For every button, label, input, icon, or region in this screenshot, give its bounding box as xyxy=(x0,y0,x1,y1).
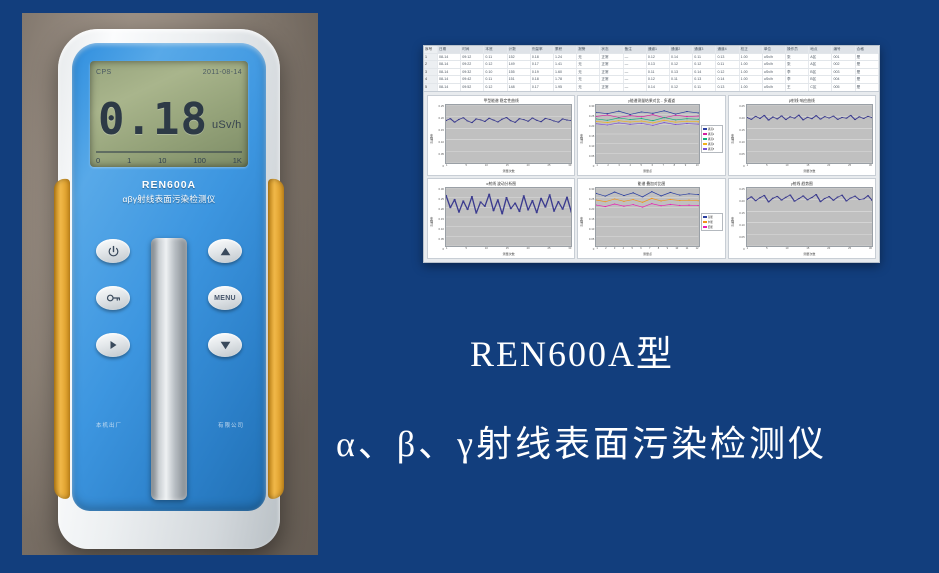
y-tick-label: 0.05 xyxy=(735,152,745,156)
data-table: 序号日期时间本底计数剂量率累积报警状态备注通道1通道2通道3通道4校正单位操作员… xyxy=(424,46,879,92)
y-axis-ticks: 0.250.200.150.100.050 xyxy=(735,104,746,174)
lcd-display: CPS 2011-08-14 0.18 uSv/h 01101001K xyxy=(90,61,248,167)
y-axis-ticks: 0.250.200.150.100.050 xyxy=(434,104,445,174)
table-cell: A区 xyxy=(809,54,832,61)
y-tick-label: 0.20 xyxy=(584,124,594,128)
table-cell: 0.12 xyxy=(484,84,507,91)
power-icon xyxy=(107,245,120,258)
table-cell: 002 xyxy=(832,61,855,68)
y-tick-label: 0.10 xyxy=(584,227,594,231)
device-footer-left: 本机出厂 xyxy=(96,421,122,429)
chart-title: γ射线 趋势图 xyxy=(729,179,875,187)
chart-body: 计数率0.250.200.150.100.050151015202530测量次数 xyxy=(428,104,574,175)
table-cell: 1.00 xyxy=(740,54,763,61)
chart-beta-response: β射线 响应曲线计数率0.250.200.150.100.05015101520… xyxy=(728,95,876,176)
table-cell: 无 xyxy=(577,54,600,61)
table-cell: 正常 xyxy=(600,69,623,76)
key-search-icon xyxy=(106,292,121,304)
lcd-status-left: CPS xyxy=(96,69,112,76)
plot-wrapper: 151015202530测量次数 xyxy=(746,104,873,174)
table-cell: 08-14 xyxy=(438,54,461,61)
table-header-cell: 合格 xyxy=(856,46,879,53)
y-tick-label: 0.15 xyxy=(584,217,594,221)
legend-item: 通道2 xyxy=(703,132,721,136)
table-cell: 无 xyxy=(577,69,600,76)
plot-area xyxy=(595,187,699,247)
plot-wrapper: 123456789101112测量点 xyxy=(595,187,699,257)
lcd-scale-tick: 1 xyxy=(127,156,131,165)
y-axis-ticks: 0.300.250.200.150.100.050 xyxy=(584,104,595,174)
table-cell: 155 xyxy=(508,69,531,76)
chart-alpha-stability: 甲型能谱 稳定性曲线计数率0.250.200.150.100.050151015… xyxy=(427,95,575,176)
table-cell: 09:52 xyxy=(461,84,484,91)
plot-wrapper: 151015202530测量次数 xyxy=(445,104,572,174)
table-cell: 正常 xyxy=(600,61,623,68)
table-header-cell: 计数 xyxy=(508,46,531,53)
chart-body: 计数率0.250.200.150.100.050151015202530测量次数 xyxy=(729,104,875,175)
table-cell: 李 xyxy=(786,69,809,76)
table-cell: 1.41 xyxy=(554,61,577,68)
y-tick-label: 0 xyxy=(584,164,594,168)
table-header-cell: 通道1 xyxy=(647,46,670,53)
table-cell: 0.13 xyxy=(716,54,739,61)
table-cell: B区 xyxy=(809,69,832,76)
table-cell: 08-14 xyxy=(438,84,461,91)
table-cell: 1.78 xyxy=(554,76,577,83)
x-axis-label: 测量次数 xyxy=(445,252,572,257)
device-description-label: αβγ射线表面污染检测仪 xyxy=(72,193,266,205)
legend-item: 通道1 xyxy=(703,127,721,131)
y-tick-label: 0.15 xyxy=(584,134,594,138)
table-cell: 0.11 xyxy=(716,61,739,68)
y-tick-label: 0.25 xyxy=(434,197,444,201)
y-tick-label: 0.15 xyxy=(434,217,444,221)
y-axis-label: 计数率 xyxy=(429,217,434,227)
table-cell: 0.18 xyxy=(531,76,554,83)
table-cell: uSv/h xyxy=(763,84,786,91)
table-cell: 0.13 xyxy=(647,61,670,68)
table-cell: A区 xyxy=(809,61,832,68)
table-cell: 0.11 xyxy=(693,54,716,61)
play-icon xyxy=(107,339,119,351)
table-header-cell: 单位 xyxy=(763,46,786,53)
down-button[interactable] xyxy=(208,333,242,357)
y-tick-label: 0.30 xyxy=(584,104,594,108)
table-cell: C区 xyxy=(809,84,832,91)
y-tick-label: 0.30 xyxy=(434,187,444,191)
table-cell: 0.17 xyxy=(531,61,554,68)
legend-swatch xyxy=(703,148,707,151)
chart-title: γ能谱测量结果对比 - 多通道 xyxy=(578,96,724,104)
table-cell: 004 xyxy=(832,76,855,83)
table-cell: 无 xyxy=(577,76,600,83)
table-header-cell: 状态 xyxy=(600,46,623,53)
table-cell: uSv/h xyxy=(763,69,786,76)
table-header-cell: 累积 xyxy=(554,46,577,53)
chart-title: β射线 响应曲线 xyxy=(729,96,875,104)
plot-wrapper: 151015202530测量次数 xyxy=(445,187,572,257)
y-tick-label: 0.05 xyxy=(735,235,745,239)
chart-legend: 通道1通道2通道3通道4通道5 xyxy=(701,125,723,153)
table-cell: 1.60 xyxy=(554,69,577,76)
legend-label: 低能 xyxy=(708,225,713,229)
table-header-cell: 序号 xyxy=(424,46,438,53)
table-cell: — xyxy=(624,69,647,76)
table-cell: 0.10 xyxy=(484,69,507,76)
y-tick-label: 0.10 xyxy=(434,227,444,231)
y-tick-label: 0.10 xyxy=(434,140,444,144)
table-cell: 0.11 xyxy=(484,54,507,61)
table-header-cell: 通道2 xyxy=(670,46,693,53)
search-button[interactable] xyxy=(96,286,130,310)
table-cell: 张 xyxy=(786,61,809,68)
play-button[interactable] xyxy=(96,333,130,357)
table-cell: — xyxy=(624,84,647,91)
page-title-model: REN600A型 xyxy=(470,325,674,377)
y-tick-label: 0.15 xyxy=(434,128,444,132)
legend-label: 通道1 xyxy=(708,127,715,131)
legend-label: 通道4 xyxy=(708,142,715,146)
legend-item: 低能 xyxy=(703,225,721,229)
table-cell: 5 xyxy=(424,84,438,91)
table-cell: 是 xyxy=(856,84,879,91)
table-cell: 正常 xyxy=(600,84,623,91)
legend-swatch xyxy=(703,133,707,136)
table-cell: 是 xyxy=(856,61,879,68)
chart-energy-stacked: 能谱 叠加对比图计数率0.300.250.200.150.100.0501234… xyxy=(577,178,725,259)
table-cell: uSv/h xyxy=(763,61,786,68)
table-cell: — xyxy=(624,54,647,61)
up-button[interactable] xyxy=(208,239,242,263)
table-cell: 0.14 xyxy=(716,76,739,83)
table-cell: 149 xyxy=(508,61,531,68)
plot-svg xyxy=(747,188,872,246)
table-header-cell: 编号 xyxy=(832,46,855,53)
legend-item: 通道5 xyxy=(703,147,721,151)
y-tick-label: 0.05 xyxy=(584,154,594,158)
chart-legend: 高能中能低能 xyxy=(701,213,723,231)
table-cell: 09:42 xyxy=(461,76,484,83)
triangle-down-icon xyxy=(219,340,232,351)
table-cell: 无 xyxy=(577,61,600,68)
plot-svg xyxy=(446,188,571,246)
table-cell: 0.13 xyxy=(716,84,739,91)
y-tick-label: 0.05 xyxy=(584,237,594,241)
table-cell: 0.11 xyxy=(693,84,716,91)
y-tick-label: 0 xyxy=(735,247,745,251)
table-cell: 0.19 xyxy=(531,69,554,76)
lcd-status-right: 2011-08-14 xyxy=(203,69,242,76)
table-cell: 003 xyxy=(832,69,855,76)
lcd-scale-tick: 100 xyxy=(193,156,206,165)
plot-area xyxy=(445,104,572,164)
chart-title: 甲型能谱 稳定性曲线 xyxy=(428,96,574,104)
table-cell: 0.12 xyxy=(647,54,670,61)
y-axis-label: 计数率 xyxy=(579,217,584,227)
table-cell: 1.24 xyxy=(554,54,577,61)
table-cell: 2 xyxy=(424,61,438,68)
y-tick-label: 0.20 xyxy=(434,207,444,211)
y-axis-ticks: 0.250.200.150.100.050 xyxy=(735,187,746,257)
table-cell: 0.14 xyxy=(647,84,670,91)
side-grip-right xyxy=(268,179,284,500)
table-cell: 005 xyxy=(832,84,855,91)
table-cell: 0.14 xyxy=(670,54,693,61)
table-cell: 0.12 xyxy=(716,69,739,76)
table-cell: 0.11 xyxy=(647,69,670,76)
plot-svg xyxy=(596,188,698,246)
y-tick-label: 0.25 xyxy=(584,197,594,201)
triangle-up-icon xyxy=(219,246,232,257)
y-tick-label: 0.25 xyxy=(434,104,444,108)
table-row: 308-1409:320.101550.191.60无正常—0.110.130.… xyxy=(424,69,879,77)
table-cell: 09:32 xyxy=(461,69,484,76)
table-cell: 09:22 xyxy=(461,61,484,68)
table-cell: 001 xyxy=(832,54,855,61)
y-tick-label: 0.25 xyxy=(584,114,594,118)
chart-title: α射线 波动分析图 xyxy=(428,179,574,187)
lcd-scale-ticks: 01101001K xyxy=(96,154,242,166)
y-axis-ticks: 0.300.250.200.150.100.050 xyxy=(434,187,445,257)
table-cell: 0.12 xyxy=(484,61,507,68)
table-cell: 0.12 xyxy=(647,76,670,83)
table-row: 508-1409:520.121480.171.95无正常—0.140.120.… xyxy=(424,84,879,92)
menu-button-label: MENU xyxy=(214,295,236,302)
y-tick-label: 0.25 xyxy=(735,187,745,191)
y-tick-label: 0.20 xyxy=(584,207,594,211)
page-title-description: α、β、γ射线表面污染检测仪 xyxy=(336,415,827,467)
legend-label: 中能 xyxy=(708,220,713,224)
plot-wrapper: 12345678910测量点 xyxy=(595,104,699,174)
y-tick-label: 0 xyxy=(434,164,444,168)
table-cell: 0.11 xyxy=(484,76,507,83)
plot-area xyxy=(445,187,572,247)
table-cell: — xyxy=(624,61,647,68)
table-cell: 09:12 xyxy=(461,54,484,61)
x-axis-label: 测量次数 xyxy=(445,169,572,174)
table-cell: 无 xyxy=(577,84,600,91)
table-header-cell: 操作员 xyxy=(786,46,809,53)
table-cell: 0.12 xyxy=(693,61,716,68)
y-tick-label: 0.20 xyxy=(735,116,745,120)
table-cell: 李 xyxy=(786,76,809,83)
table-cell: 148 xyxy=(508,84,531,91)
y-tick-label: 0.30 xyxy=(584,187,594,191)
table-cell: 1.95 xyxy=(554,84,577,91)
y-tick-label: 0.05 xyxy=(434,237,444,241)
y-tick-label: 0.10 xyxy=(735,140,745,144)
legend-swatch xyxy=(703,128,707,131)
table-cell: uSv/h xyxy=(763,54,786,61)
plot-svg xyxy=(596,105,698,163)
menu-button[interactable]: MENU xyxy=(208,286,242,310)
x-axis-label: 测量点 xyxy=(595,169,699,174)
y-tick-label: 0.15 xyxy=(735,211,745,215)
legend-swatch xyxy=(703,221,707,224)
power-button[interactable] xyxy=(96,239,130,263)
device-model-label: REN600A xyxy=(72,179,266,191)
y-tick-label: 0.25 xyxy=(735,104,745,108)
device-handle-strip xyxy=(151,238,187,500)
chart-multichannel-spectrum: γ能谱测量结果对比 - 多通道计数率0.300.250.200.150.100.… xyxy=(577,95,725,176)
side-grip-left xyxy=(54,179,70,500)
table-cell: 是 xyxy=(856,69,879,76)
table-cell: — xyxy=(624,76,647,83)
x-axis-label: 测量次数 xyxy=(746,252,873,257)
table-header-row: 序号日期时间本底计数剂量率累积报警状态备注通道1通道2通道3通道4校正单位操作员… xyxy=(424,46,879,54)
device-brand-block: REN600A αβγ射线表面污染检测仪 xyxy=(72,179,266,205)
table-cell: 1.00 xyxy=(740,69,763,76)
plot-wrapper: 151015202530测量次数 xyxy=(746,187,873,257)
table-cell: 正常 xyxy=(600,76,623,83)
chart-body: 计数率0.300.250.200.150.100.05012345678910测… xyxy=(578,104,724,175)
charts-grid: 甲型能谱 稳定性曲线计数率0.250.200.150.100.050151015… xyxy=(424,92,879,262)
y-axis-label: 计数率 xyxy=(429,134,434,144)
product-photo: CPS 2011-08-14 0.18 uSv/h 01101001K REN6… xyxy=(22,13,318,555)
table-header-cell: 地点 xyxy=(809,46,832,53)
table-cell: 1.00 xyxy=(740,76,763,83)
lcd-value: 0.18 xyxy=(98,99,208,141)
lcd-scale-tick: 10 xyxy=(158,156,166,165)
legend-swatch xyxy=(703,143,707,146)
table-cell: 0.12 xyxy=(670,61,693,68)
table-cell: 0.18 xyxy=(531,54,554,61)
lcd-status-bar: CPS 2011-08-14 xyxy=(96,66,242,79)
chart-body: 计数率0.300.250.200.150.100.050123456789101… xyxy=(578,187,724,258)
chart-body: 计数率0.250.200.150.100.050151015202530测量次数 xyxy=(729,187,875,258)
table-cell: 08-14 xyxy=(438,69,461,76)
table-cell: 是 xyxy=(856,76,879,83)
legend-label: 通道5 xyxy=(708,147,715,151)
device-shell: CPS 2011-08-14 0.18 uSv/h 01101001K REN6… xyxy=(58,29,280,549)
table-header-cell: 时间 xyxy=(461,46,484,53)
table-cell: 张 xyxy=(786,54,809,61)
table-header-cell: 日期 xyxy=(438,46,461,53)
table-cell: 正常 xyxy=(600,54,623,61)
plot-area xyxy=(595,104,699,164)
lcd-unit: uSv/h xyxy=(212,119,242,141)
y-tick-label: 0 xyxy=(735,164,745,168)
table-header-cell: 校正 xyxy=(740,46,763,53)
device-faceplate: CPS 2011-08-14 0.18 uSv/h 01101001K REN6… xyxy=(72,43,266,511)
table-cell: B区 xyxy=(809,76,832,83)
y-axis-ticks: 0.300.250.200.150.100.050 xyxy=(584,187,595,257)
y-tick-label: 0.10 xyxy=(735,223,745,227)
table-cell: 3 xyxy=(424,69,438,76)
device-footer-right: 有限公司 xyxy=(218,421,244,429)
table-cell: 1.00 xyxy=(740,61,763,68)
plot-area xyxy=(746,104,873,164)
x-axis-label: 测量次数 xyxy=(746,169,873,174)
legend-item: 通道3 xyxy=(703,137,721,141)
table-cell: 151 xyxy=(508,76,531,83)
lcd-reading: 0.18 uSv/h xyxy=(98,83,242,141)
chart-title: 能谱 叠加对比图 xyxy=(578,179,724,187)
chart-alpha-fluctuation: α射线 波动分析图计数率0.300.250.200.150.100.050151… xyxy=(427,178,575,259)
table-header-cell: 通道4 xyxy=(716,46,739,53)
legend-label: 通道2 xyxy=(708,132,715,136)
plot-area xyxy=(746,187,873,247)
table-cell: 0.11 xyxy=(670,76,693,83)
y-axis-label: 计数率 xyxy=(730,217,735,227)
table-cell: 08-14 xyxy=(438,76,461,83)
table-cell: 152 xyxy=(508,54,531,61)
table-cell: 4 xyxy=(424,76,438,83)
legend-label: 通道3 xyxy=(708,137,715,141)
y-tick-label: 0.20 xyxy=(434,116,444,120)
y-tick-label: 0 xyxy=(584,247,594,251)
y-tick-label: 0.10 xyxy=(584,144,594,148)
legend-item: 通道4 xyxy=(703,142,721,146)
chart-gamma-trend: γ射线 趋势图计数率0.250.200.150.100.050151015202… xyxy=(728,178,876,259)
table-cell: uSv/h xyxy=(763,76,786,83)
legend-item: 高能 xyxy=(703,215,721,219)
plot-svg xyxy=(446,105,571,163)
table-header-cell: 剂量率 xyxy=(531,46,554,53)
table-row: 408-1409:420.111510.181.78无正常—0.120.110.… xyxy=(424,76,879,84)
lcd-scale-bar xyxy=(96,151,242,153)
legend-swatch xyxy=(703,226,707,229)
y-tick-label: 0.20 xyxy=(735,199,745,203)
table-cell: 是 xyxy=(856,54,879,61)
table-cell: 0.12 xyxy=(670,84,693,91)
table-row: 208-1409:220.121490.171.41无正常—0.130.120.… xyxy=(424,61,879,69)
table-cell: 0.17 xyxy=(531,84,554,91)
y-axis-label: 计数率 xyxy=(579,134,584,144)
lcd-scale-tick: 0 xyxy=(96,156,100,165)
legend-swatch xyxy=(703,216,707,219)
table-cell: 0.14 xyxy=(693,69,716,76)
legend-swatch xyxy=(703,138,707,141)
table-row: 108-1409:120.111520.181.24无正常—0.120.140.… xyxy=(424,54,879,62)
table-cell: 王 xyxy=(786,84,809,91)
y-tick-label: 0.15 xyxy=(735,128,745,132)
legend-label: 高能 xyxy=(708,215,713,219)
table-header-cell: 本底 xyxy=(484,46,507,53)
y-tick-label: 0.05 xyxy=(434,152,444,156)
y-tick-label: 0 xyxy=(434,247,444,251)
table-header-cell: 备注 xyxy=(624,46,647,53)
table-header-cell: 报警 xyxy=(577,46,600,53)
lcd-scale-tick: 1K xyxy=(233,156,242,165)
table-cell: 1 xyxy=(424,54,438,61)
table-cell: 08-14 xyxy=(438,61,461,68)
table-cell: 0.13 xyxy=(670,69,693,76)
legend-item: 中能 xyxy=(703,220,721,224)
report-panel: 序号日期时间本底计数剂量率累积报警状态备注通道1通道2通道3通道4校正单位操作员… xyxy=(423,45,880,263)
table-cell: 0.13 xyxy=(693,76,716,83)
chart-body: 计数率0.300.250.200.150.100.050151015202530… xyxy=(428,187,574,258)
x-axis-label: 测量点 xyxy=(595,252,699,257)
plot-svg xyxy=(747,105,872,163)
table-header-cell: 通道3 xyxy=(693,46,716,53)
y-axis-label: 计数率 xyxy=(730,134,735,144)
table-cell: 1.00 xyxy=(740,84,763,91)
